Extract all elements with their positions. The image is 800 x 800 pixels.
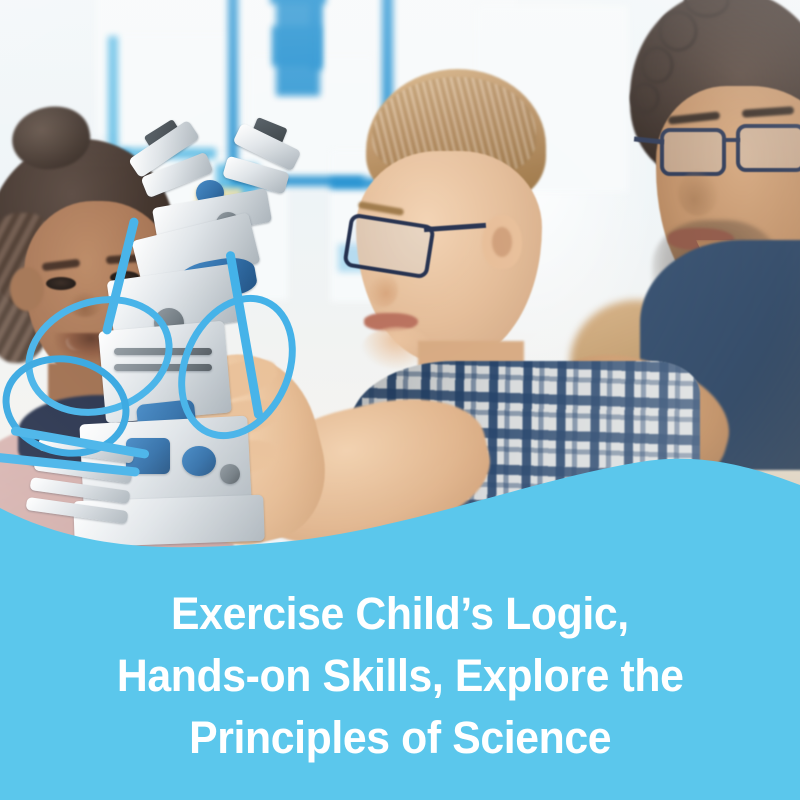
- promo-banner: Exercise Child’s Logic, Hands-on Skills,…: [0, 0, 800, 800]
- caption-block: Exercise Child’s Logic, Hands-on Skills,…: [0, 565, 800, 800]
- boy-ear-inner: [492, 227, 512, 257]
- teacher-curl-1: [658, 10, 698, 52]
- caption-line-1: Exercise Child’s Logic,: [171, 583, 629, 645]
- caption-line-2: Hands-on Skills, Explore the: [117, 645, 684, 707]
- girl-ear: [10, 267, 44, 311]
- teacher-glasses-right-lens: [736, 124, 800, 172]
- poster-tape-9: [276, 0, 320, 96]
- teacher-glasses-bridge: [724, 138, 740, 142]
- girl-eye-left: [46, 277, 76, 290]
- caption-line-3: Principles of Science: [189, 707, 611, 769]
